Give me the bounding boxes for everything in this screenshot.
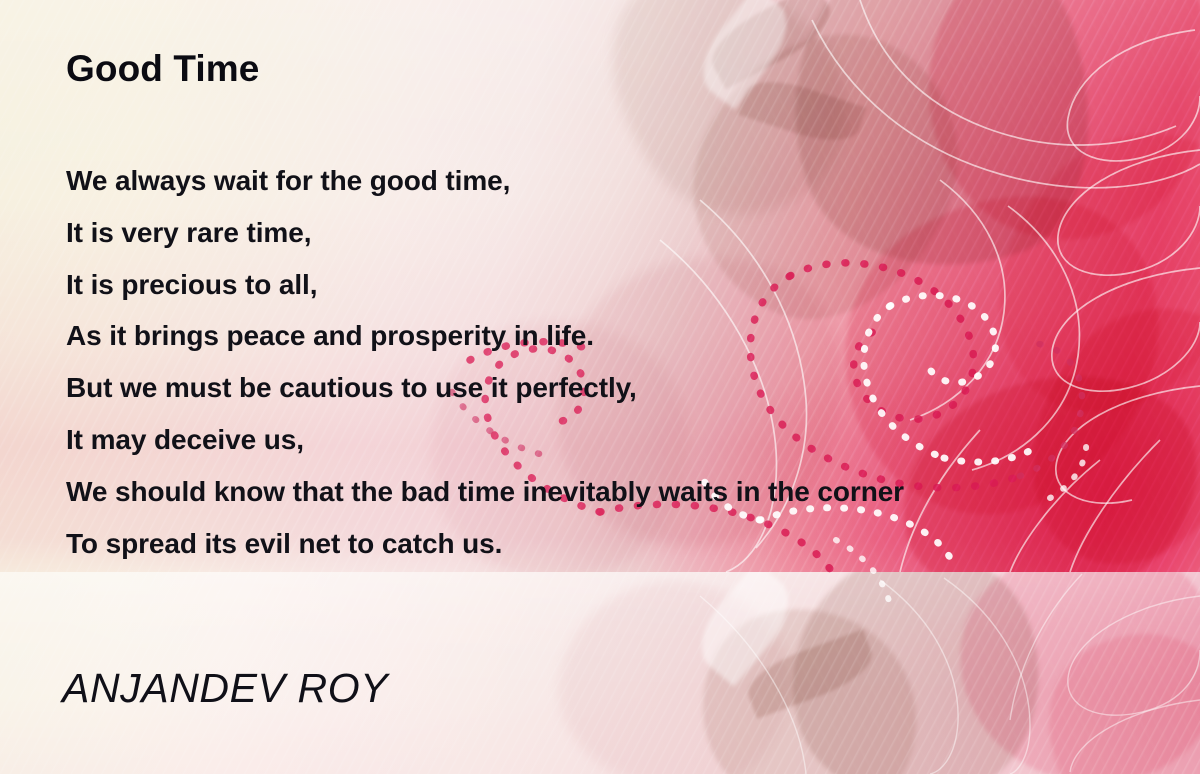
poem-line: It may deceive us, (66, 414, 1126, 466)
poem-text-layer: Good Time We always wait for the good ti… (0, 0, 1200, 774)
poem-line: We always wait for the good time, (66, 155, 1126, 207)
poem-line: It is precious to all, (66, 259, 1126, 311)
poem-line: But we must be cautious to use it perfec… (66, 362, 1126, 414)
poem-line: We should know that the bad time inevita… (66, 466, 1126, 518)
poem-image-card: Good Time We always wait for the good ti… (0, 0, 1200, 774)
poem-line: To spread its evil net to catch us. (66, 518, 1126, 570)
poem-line: It is very rare time, (66, 207, 1126, 259)
author-signature: ANJANDEV ROY (62, 668, 388, 709)
page-title: Good Time (66, 50, 259, 87)
poem-line: As it brings peace and prosperity in lif… (66, 310, 1126, 362)
poem-body: We always wait for the good time, It is … (66, 155, 1126, 569)
